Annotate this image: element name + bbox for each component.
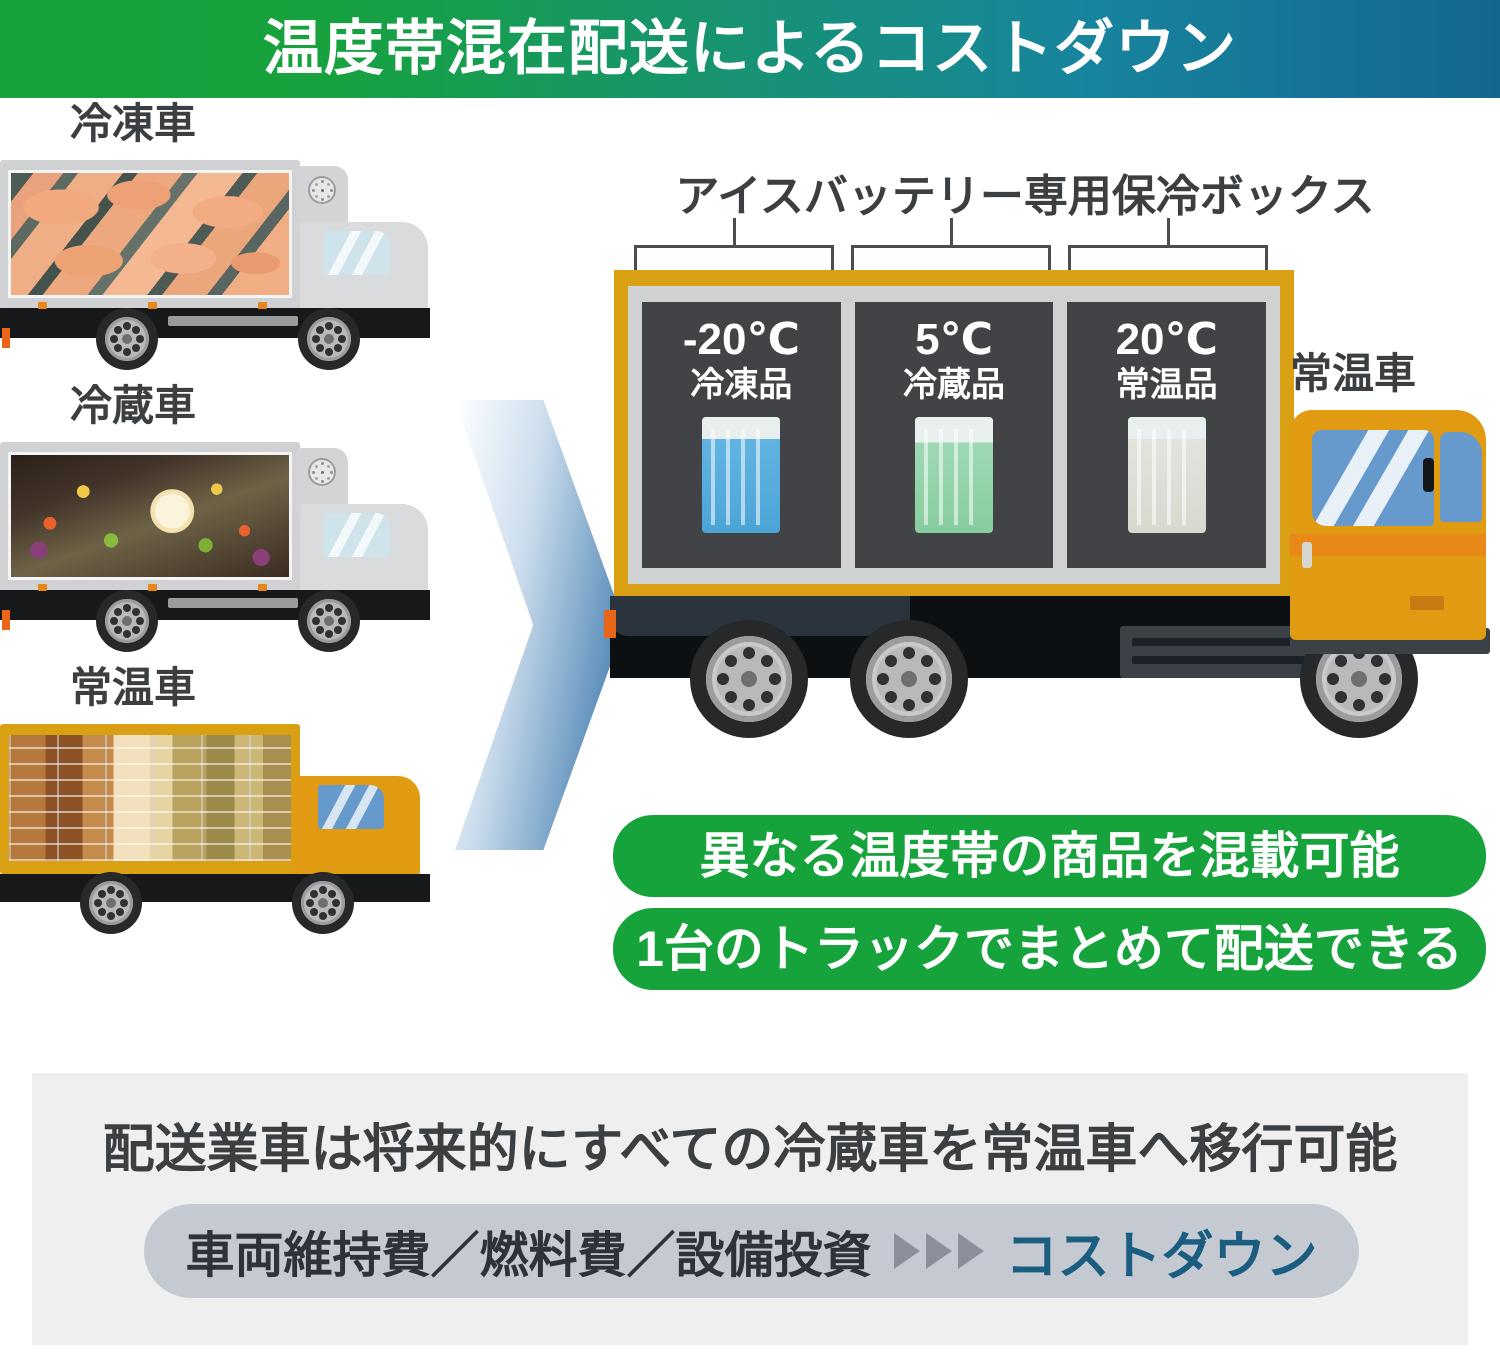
- side-marker-lamp: [148, 302, 157, 309]
- callout-bracket-2: [851, 245, 1051, 273]
- benefit-banner-2: 1台のトラックでまとめて配送できる: [613, 908, 1486, 990]
- wheel-rear: [80, 872, 142, 934]
- wheel-rear: [96, 308, 158, 370]
- compartment-kind: 冷凍品: [690, 366, 792, 405]
- compartment-temp: -20℃: [683, 318, 800, 362]
- cost-down-pill: 車両維持費／燃料費／設備投資 コストダウン: [144, 1204, 1359, 1298]
- cargo-photo-fresh-salad: [8, 452, 292, 580]
- wheel-front: [292, 872, 354, 934]
- cargo-box: [0, 442, 300, 592]
- compartment-chilled: 5℃ 冷蔵品: [855, 302, 1054, 568]
- summary-panel: 配送業車は将来的にすべての冷蔵車を常温車へ移行可能 車両維持費／燃料費／設備投資…: [32, 1073, 1468, 1345]
- chassis: [0, 874, 430, 902]
- tail-lamp: [2, 328, 10, 348]
- windshield: [318, 785, 384, 829]
- main-truck-label: 常温車: [1290, 340, 1416, 401]
- cargo-photo-frozen-salmon: [8, 170, 292, 298]
- cargo-box: [0, 160, 300, 310]
- main-tail-lamp: [604, 610, 616, 638]
- summary-statement: 配送業車は将来的にすべての冷蔵車を常温車へ移行可能: [32, 1107, 1468, 1182]
- arrow-right-icon: [926, 1233, 952, 1269]
- ice-battery-blue-icon: [702, 417, 780, 533]
- side-marker-lamp: [148, 584, 157, 591]
- side-skirt: [168, 598, 298, 608]
- truck-cab: [300, 504, 428, 594]
- ice-battery-white-icon: [1128, 417, 1206, 533]
- truck-card-chilled: 冷蔵車: [0, 384, 460, 649]
- truck-illustration-chilled: [0, 434, 440, 649]
- cab-stripe: [1290, 534, 1486, 556]
- wheel-front: [298, 308, 360, 370]
- cold-box-heading: アイスバッテリー専用保冷ボックス: [630, 160, 1420, 224]
- compartment-temp: 20℃: [1116, 318, 1218, 362]
- main-truck-cab: [1290, 410, 1486, 640]
- compartment-ambient: 20℃ 常温品: [1067, 302, 1266, 568]
- side-mirror-icon: [1423, 458, 1434, 492]
- truck-illustration-ambient: [0, 716, 440, 931]
- truck-cab: [300, 222, 428, 312]
- compartment-kind: 常温品: [1116, 366, 1218, 405]
- truck-illustration-frozen: [0, 152, 440, 367]
- compartment-temp: 5℃: [915, 318, 993, 362]
- main-cargo-body: -20℃ 冷凍品 5℃ 冷蔵品 20℃ 常温品: [614, 270, 1294, 600]
- windshield: [324, 513, 390, 557]
- truck-label-frozen: 冷凍車: [70, 102, 460, 146]
- callout-stem-3: [1167, 218, 1170, 246]
- source-trucks-column: 冷凍車 冷蔵車: [0, 98, 470, 1058]
- ice-battery-green-icon: [915, 417, 993, 533]
- truck-cab: [294, 776, 420, 876]
- callout-stem-1: [733, 218, 736, 246]
- side-marker-lamp: [258, 302, 267, 309]
- side-marker-lamp: [258, 584, 267, 591]
- compartment-frozen: -20℃ 冷凍品: [642, 302, 841, 568]
- side-marker-lamp: [38, 584, 47, 591]
- side-skirt: [168, 316, 298, 326]
- compartment-callouts: [634, 218, 1274, 273]
- callout-stem-2: [950, 218, 953, 246]
- callout-bracket-1: [634, 245, 834, 273]
- cargo-box: [0, 724, 300, 874]
- main-windshield: [1312, 430, 1434, 526]
- cost-down-result: コストダウン: [1006, 1214, 1318, 1289]
- main-side-window: [1440, 432, 1482, 522]
- wheel-rear: [96, 590, 158, 652]
- benefit-banner-1: 異なる温度帯の商品を混載可能: [613, 815, 1486, 897]
- triple-arrow-icon: [894, 1233, 984, 1269]
- cargo-photo-packed-nuts: [6, 732, 294, 864]
- compartment-kind: 冷蔵品: [903, 366, 1005, 405]
- benefit-banner-2-text: 1台のトラックでまとめて配送できる: [636, 924, 1463, 974]
- cooling-fan-icon: [308, 176, 336, 204]
- main-wheel-rear-1: [690, 620, 808, 738]
- main-truck-illustration: -20℃ 冷凍品 5℃ 冷蔵品 20℃ 常温品: [600, 270, 1500, 800]
- compartment-list: -20℃ 冷凍品 5℃ 冷蔵品 20℃ 常温品: [642, 302, 1266, 568]
- cost-items-label: 車両維持費／燃料費／設備投資: [185, 1216, 871, 1287]
- truck-label-ambient: 常温車: [70, 666, 460, 710]
- side-marker-lamp: [38, 302, 47, 309]
- cooling-fan-icon: [308, 458, 336, 486]
- truck-card-ambient: 常温車: [0, 666, 460, 931]
- mixed-temperature-truck-section: アイスバッテリー専用保冷ボックス -20℃ 冷凍品 5℃ 冷蔵品: [600, 160, 1500, 800]
- windshield: [324, 231, 390, 275]
- headlamp-icon: [1410, 596, 1444, 610]
- arrow-right-icon: [958, 1233, 984, 1269]
- main-wheel-rear-2: [850, 620, 968, 738]
- tail-lamp: [2, 610, 10, 630]
- truck-label-chilled: 冷蔵車: [70, 384, 460, 428]
- page-title: 温度帯混在配送によるコストダウン: [263, 19, 1237, 79]
- callout-bracket-3: [1068, 245, 1268, 273]
- wheel-front: [298, 590, 360, 652]
- page-header: 温度帯混在配送によるコストダウン: [0, 0, 1500, 98]
- truck-card-frozen: 冷凍車: [0, 102, 460, 367]
- arrow-right-icon: [894, 1233, 920, 1269]
- door-handle-icon: [1302, 542, 1312, 568]
- benefit-banner-1-text: 異なる温度帯の商品を混載可能: [700, 831, 1400, 881]
